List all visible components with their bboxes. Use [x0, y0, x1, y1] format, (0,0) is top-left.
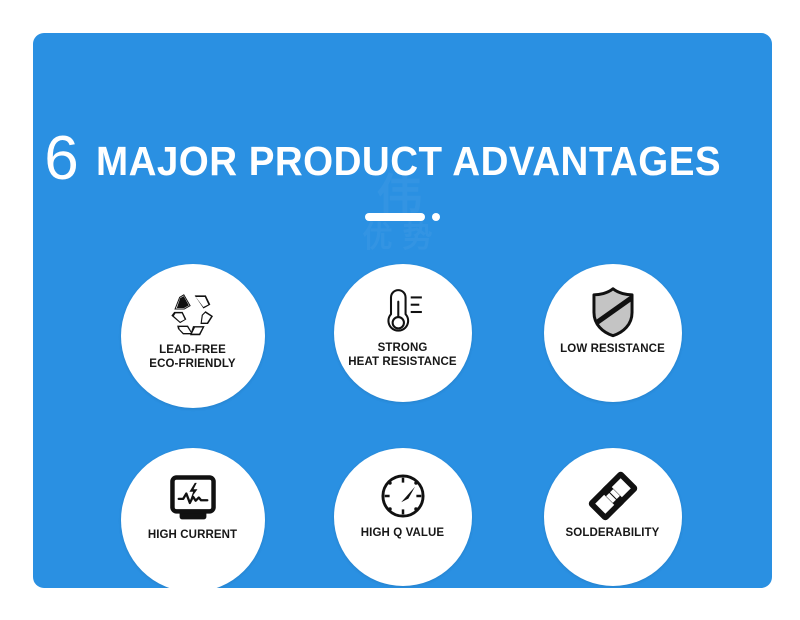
chain-link-icon: [587, 470, 639, 522]
feature-item-high-current[interactable]: HIGH CURRENT: [88, 448, 298, 588]
feature-circle: STRONG HEAT RESISTANCE: [334, 264, 472, 402]
page-title: 6MAJOR PRODUCT ADVANTAGES: [33, 128, 772, 192]
gauge-dial-icon: [378, 470, 428, 522]
heading-number: 6: [44, 128, 78, 190]
feature-label: STRONG HEAT RESISTANCE: [342, 342, 462, 369]
feature-label: LEAD-FREE ECO-FRIENDLY: [143, 344, 241, 371]
feature-circle: LOW RESISTANCE: [544, 264, 682, 402]
feature-item-lead-free-eco-friendly[interactable]: LEAD-FREE ECO-FRIENDLY: [88, 264, 298, 414]
feature-label: HIGH Q VALUE: [355, 527, 450, 541]
divider: [33, 213, 772, 221]
advantages-panel: 伟 优势 6MAJOR PRODUCT ADVANTAGES: [33, 33, 772, 588]
feature-circle: LEAD-FREE ECO-FRIENDLY: [121, 264, 265, 408]
feature-circle: HIGH Q VALUE: [334, 448, 472, 586]
heading-title: MAJOR PRODUCT ADVANTAGES: [96, 130, 721, 192]
monitor-waveform-icon: [168, 472, 218, 524]
thermometer-icon: [379, 286, 427, 338]
feature-item-strong-heat-resistance[interactable]: STRONG HEAT RESISTANCE: [298, 264, 508, 414]
divider-dot: [432, 213, 440, 221]
feature-row-bottom: HIGH CURRENT: [33, 448, 772, 588]
shield-icon: [588, 286, 638, 338]
feature-circle: SOLDERABILITY: [544, 448, 682, 586]
feature-circle: HIGH CURRENT: [121, 448, 265, 588]
feature-label: HIGH CURRENT: [142, 529, 243, 543]
feature-item-high-q-value[interactable]: HIGH Q VALUE: [298, 448, 508, 588]
feature-label: SOLDERABILITY: [560, 527, 666, 541]
feature-grid: LEAD-FREE ECO-FRIENDLY: [33, 236, 772, 586]
feature-item-low-resistance[interactable]: LOW RESISTANCE: [508, 264, 718, 414]
divider-bar: [365, 213, 425, 221]
feature-label: LOW RESISTANCE: [554, 343, 671, 357]
recycle-icon: [166, 288, 220, 340]
feature-row-top: LEAD-FREE ECO-FRIENDLY: [33, 264, 772, 414]
feature-item-solderability[interactable]: SOLDERABILITY: [508, 448, 718, 588]
